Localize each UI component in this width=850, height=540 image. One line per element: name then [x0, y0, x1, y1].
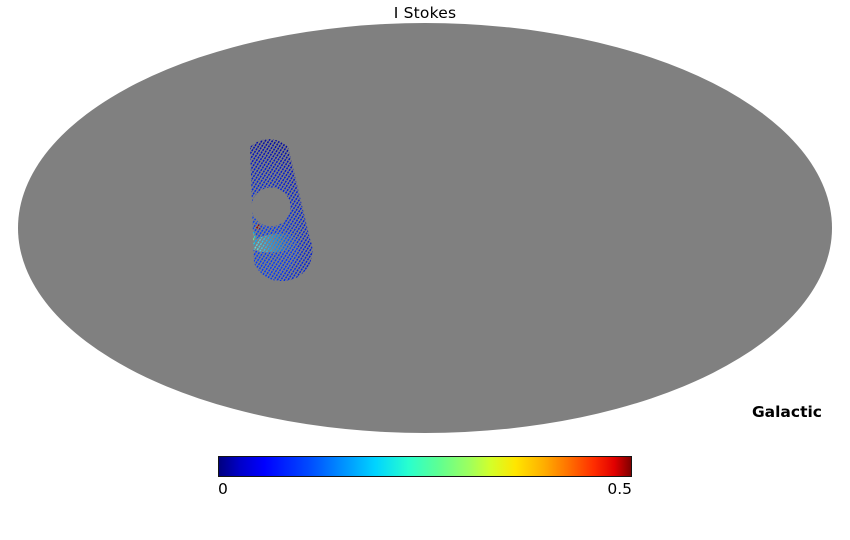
hotspot-primary — [226, 224, 258, 254]
hotspot-peak — [233, 232, 243, 242]
colorbar-min-tick-label: 0 — [218, 479, 228, 499]
survey-footprint-heatmap — [214, 131, 320, 281]
secondary-point-source — [255, 224, 260, 229]
sky-data-clip — [18, 23, 832, 433]
sky-map-figure: I Stokes — [0, 0, 850, 540]
colorbar: 0 0.5 — [218, 456, 632, 502]
hotspot-core — [230, 229, 248, 246]
colorbar-max-tick-label: 0.5 — [607, 479, 632, 499]
coordinate-system-label: Galactic — [752, 402, 822, 422]
page-title: I Stokes — [0, 3, 850, 23]
mollweide-projection — [18, 23, 832, 433]
unobserved-hole — [252, 188, 291, 227]
heatmap-svg — [214, 131, 320, 281]
colorbar-gradient — [218, 456, 632, 477]
